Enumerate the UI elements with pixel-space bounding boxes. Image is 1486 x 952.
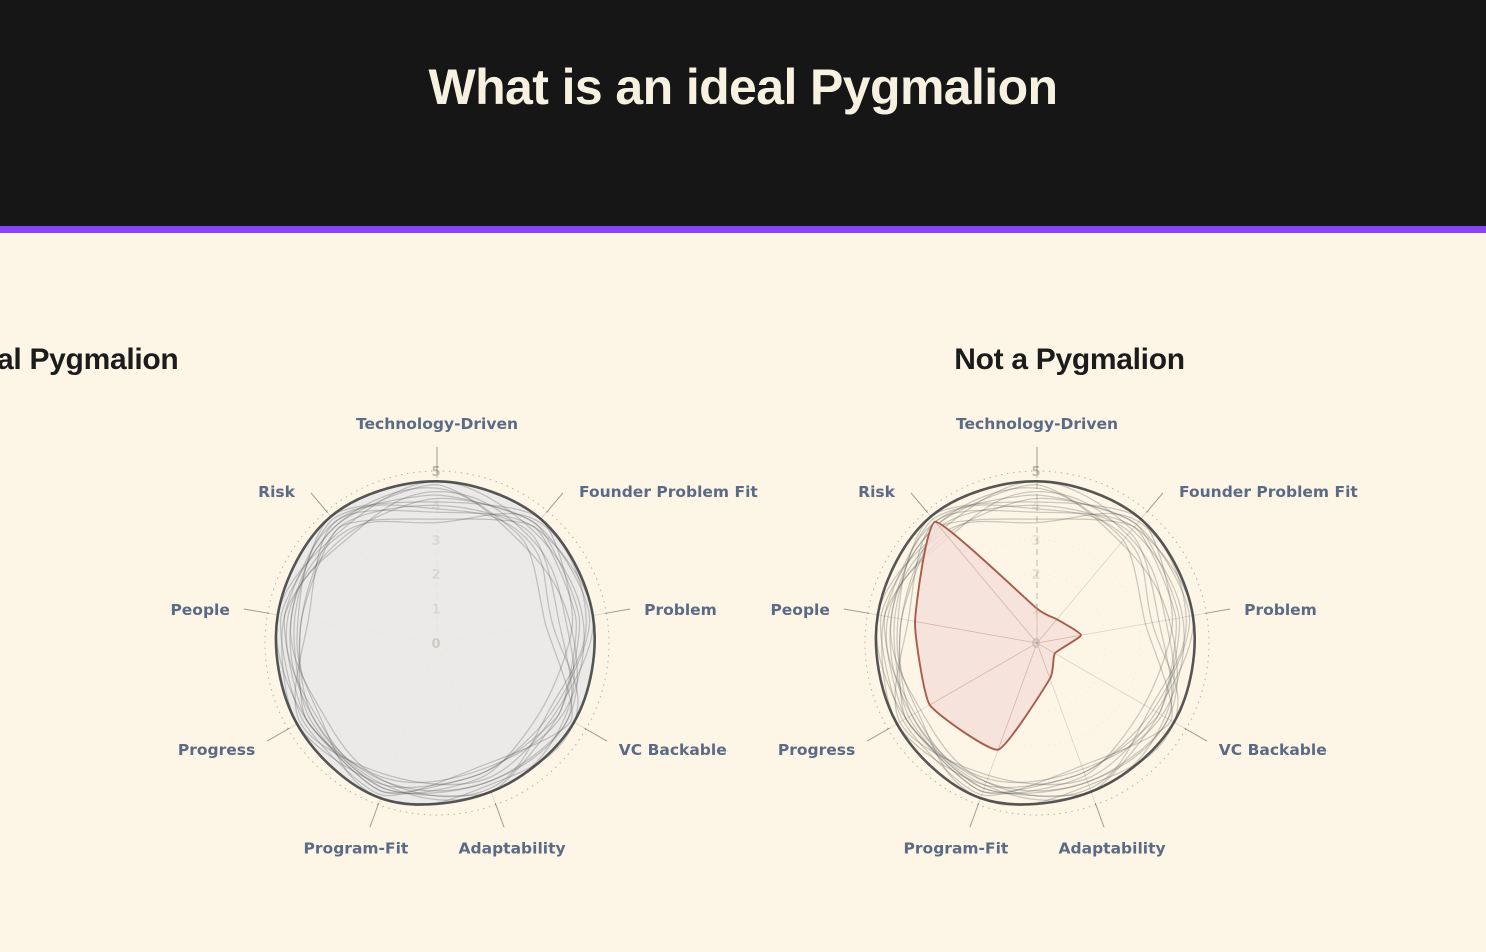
axis-leader-line <box>267 728 289 741</box>
axis-leader-line <box>1184 728 1206 741</box>
axis-label-technology-driven: Technology-Driven <box>956 415 1118 433</box>
axis-label-adaptability: Adaptability <box>459 839 566 857</box>
axis-label-founder-problem-fit: Founder Problem Fit <box>579 483 758 501</box>
axis-leader-line <box>495 803 504 827</box>
radar-chart-not: 012345Technology-DrivenFounder Problem F… <box>743 233 1486 952</box>
axis-leader-line <box>1146 493 1163 513</box>
radar-chart-ideal: 012345Technology-DrivenFounder Problem F… <box>0 233 743 952</box>
highlight-polygon <box>915 522 1081 750</box>
radial-tick-label: 2 <box>1031 568 1040 583</box>
axis-label-risk: Risk <box>858 483 895 501</box>
slide-content: Ideal Pygmalion 012345Technology-DrivenF… <box>0 233 1486 952</box>
axis-leader-line <box>370 803 379 827</box>
radial-tick-label: 5 <box>1031 465 1040 480</box>
axis-label-vc-backable: VC Backable <box>619 741 727 759</box>
chart-panel-ideal: Ideal Pygmalion 012345Technology-DrivenF… <box>0 233 743 952</box>
radial-tick-label: 1 <box>1031 603 1040 618</box>
axis-label-vc-backable: VC Backable <box>1219 741 1327 759</box>
axis-label-risk: Risk <box>258 483 295 501</box>
axis-label-progress: Progress <box>178 741 255 759</box>
axis-label-founder-problem-fit: Founder Problem Fit <box>1179 483 1358 501</box>
radial-tick-label: 3 <box>431 534 440 549</box>
axis-leader-line <box>605 609 630 613</box>
page-title: What is an ideal Pygmalion <box>0 58 1486 116</box>
radial-tick-label: 2 <box>431 568 440 583</box>
axis-leader-line <box>311 493 328 513</box>
axis-label-program-fit: Program-Fit <box>304 839 409 857</box>
axis-leader-line <box>911 493 928 513</box>
axis-leader-line <box>546 493 563 513</box>
axis-leader-line <box>970 803 979 827</box>
axis-label-technology-driven: Technology-Driven <box>356 415 518 433</box>
axis-leader-line <box>844 609 869 613</box>
radial-tick-label: 5 <box>431 465 440 480</box>
axis-label-program-fit: Program-Fit <box>904 839 1009 857</box>
axis-leader-line <box>244 609 269 613</box>
radial-tick-label: 4 <box>431 499 440 514</box>
axis-leader-line <box>584 728 606 741</box>
radial-tick-label: 0 <box>1031 637 1040 652</box>
axis-label-people: People <box>770 601 829 619</box>
axis-label-problem: Problem <box>644 601 717 619</box>
axis-label-progress: Progress <box>778 741 855 759</box>
slide-header: What is an ideal Pygmalion <box>0 0 1486 226</box>
chart-panel-not: Not a Pygmalion 012345Technology-DrivenF… <box>743 233 1486 952</box>
axis-label-problem: Problem <box>1244 601 1317 619</box>
radial-tick-label: 1 <box>431 603 440 618</box>
header-accent-bar <box>0 226 1486 233</box>
axis-leader-line <box>867 728 889 741</box>
axis-leader-line <box>1205 609 1230 613</box>
radial-tick-label: 0 <box>431 637 440 652</box>
axis-label-adaptability: Adaptability <box>1059 839 1166 857</box>
axis-label-people: People <box>170 601 229 619</box>
axis-leader-line <box>1095 803 1104 827</box>
radial-tick-label: 3 <box>1031 534 1040 549</box>
radial-tick-label: 4 <box>1031 499 1040 514</box>
